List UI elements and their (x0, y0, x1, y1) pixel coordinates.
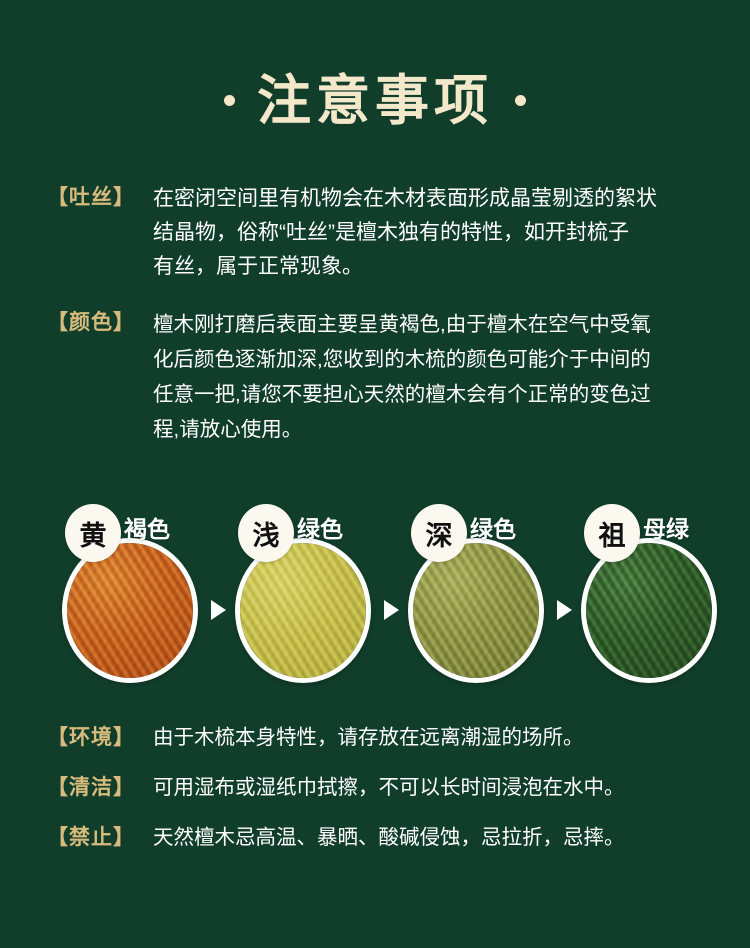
note-line: 结晶物，俗称“吐丝”是檀木独有的特性，如开封梳子 (153, 216, 715, 250)
note-section-environment: 【环境】 由于木梳本身特性，请存放在远离潮湿的场所。 (47, 722, 727, 754)
note-section-silk: 【吐丝】 在密闭空间里有机物会在木材表面形成晶莹剔透的絮状 结晶物，俗称“吐丝”… (47, 182, 715, 284)
note-label-prohibition: 【禁止】 (47, 822, 151, 854)
note-line: 在密闭空间里有机物会在木材表面形成晶莹剔透的絮状 (153, 182, 715, 216)
note-line: 程,请放心使用。 (153, 412, 719, 447)
note-body-cleaning: 可用湿布或湿纸巾拭擦，不可以长时间浸泡在水中。 (151, 772, 727, 804)
note-body-prohibition: 天然檀木忌高温、暴晒、酸碱侵蚀，忌拉折，忌摔。 (151, 822, 727, 854)
progression-arrow-icon-2 (557, 600, 572, 620)
swatch-badge-3: 祖 (584, 504, 640, 562)
note-section-color: 【颜色】 檀木刚打磨后表面主要呈黄褐色,由于檀木在空气中受氧 化后颜色逐渐加深,… (47, 307, 719, 447)
note-label-color: 【颜色】 (47, 307, 151, 339)
wood-grain-texture-1 (240, 543, 366, 678)
note-line: 有丝，属于正常现象。 (153, 250, 715, 284)
page-title-bar: 注意事项 (0, 60, 750, 140)
note-line: 化后颜色逐渐加深,您收到的木梳的颜色可能介于中间的 (153, 342, 719, 377)
page-title: 注意事项 (257, 73, 493, 127)
swatch-suffix-1: 绿色 (297, 510, 343, 544)
color-swatch-0: 黄 褐色 (62, 538, 198, 683)
color-swatch-1: 浅 绿色 (235, 538, 371, 683)
note-section-cleaning: 【清洁】 可用湿布或湿纸巾拭擦，不可以长时间浸泡在水中。 (47, 772, 727, 804)
note-label-environment: 【环境】 (47, 722, 151, 754)
swatch-badge-0: 黄 (65, 504, 121, 562)
color-swatch-2: 深 绿色 (408, 538, 544, 683)
title-right-dot-icon (515, 95, 526, 106)
note-body-environment: 由于木梳本身特性，请存放在远离潮湿的场所。 (151, 722, 727, 754)
color-swatch-3: 祖 母绿 (581, 538, 717, 683)
title-left-dot-icon (224, 95, 235, 106)
note-section-prohibition: 【禁止】 天然檀木忌高温、暴晒、酸碱侵蚀，忌拉折，忌摔。 (47, 822, 727, 854)
color-progression-row: 黄 褐色 浅 绿色 深 绿色 祖 母绿 (40, 496, 712, 692)
wood-grain-texture-2 (413, 543, 539, 678)
swatch-suffix-3: 母绿 (643, 510, 689, 544)
swatch-suffix-0: 褐色 (124, 510, 170, 544)
note-label-cleaning: 【清洁】 (47, 772, 151, 804)
note-line: 檀木刚打磨后表面主要呈黄褐色,由于檀木在空气中受氧 (153, 307, 719, 342)
swatch-badge-2: 深 (411, 504, 467, 562)
note-body-color: 檀木刚打磨后表面主要呈黄褐色,由于檀木在空气中受氧 化后颜色逐渐加深,您收到的木… (151, 307, 719, 447)
swatch-badge-1: 浅 (238, 504, 294, 562)
swatch-suffix-2: 绿色 (470, 510, 516, 544)
note-label-silk: 【吐丝】 (47, 182, 151, 214)
progression-arrow-icon-1 (384, 600, 399, 620)
wood-grain-texture-0 (67, 543, 193, 678)
note-line: 任意一把,请您不要担心天然的檀木会有个正常的变色过 (153, 377, 719, 412)
wood-grain-texture-3 (586, 543, 712, 678)
progression-arrow-icon-0 (211, 600, 226, 620)
note-body-silk: 在密闭空间里有机物会在木材表面形成晶莹剔透的絮状 结晶物，俗称“吐丝”是檀木独有… (151, 182, 715, 284)
